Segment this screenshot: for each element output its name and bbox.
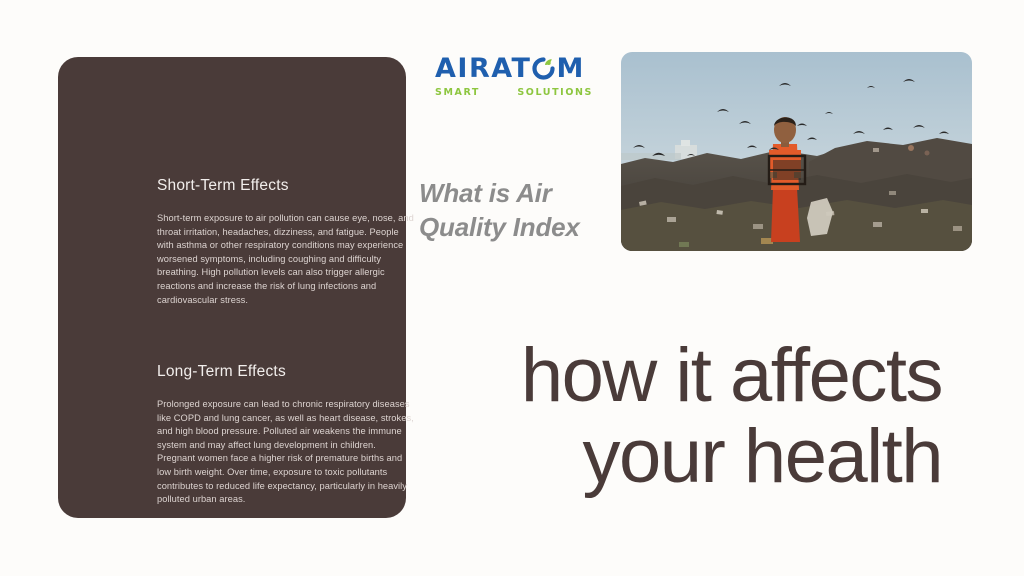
section-long-term-effects: Long-Term Effects Prolonged exposure can… [157,363,415,507]
headline-line-2: your health [430,417,942,498]
section-short-term-effects: Short-Term Effects Short-term exposure t… [157,177,415,307]
section-heading-long-term: Long-Term Effects [157,363,415,381]
logo-wordmark: AIRAT M [435,55,595,82]
section-body-short-term: Short-term exposure to air pollution can… [157,212,415,307]
logo-o-leaf-icon [532,57,555,80]
logo-tagline-right: SOLUTIONS [517,87,593,98]
section-body-long-term: Prolonged exposure can lead to chronic r… [157,398,415,507]
main-headline: how it affects your health [430,336,942,497]
landfill-photo [621,52,972,251]
info-panel: Short-Term Effects Short-term exposure t… [58,57,406,518]
section-heading-short-term: Short-Term Effects [157,177,415,195]
subhead-line-2: Quality Index [419,210,619,244]
subhead-question: What is Air Quality Index [419,176,619,245]
logo-wordmark-text-a: AIRAT [435,55,531,82]
subhead-line-1: What is Air [419,176,619,210]
logo-wordmark-text-b: M [556,55,584,82]
logo-tagline-left: SMART [435,87,480,98]
logo-tagline: SMART SOLUTIONS [435,87,593,98]
headline-line-1: how it affects [430,336,942,417]
slide-canvas: Short-Term Effects Short-term exposure t… [0,0,1024,576]
brand-logo: AIRAT M SMART SOLUTIONS [435,55,595,98]
